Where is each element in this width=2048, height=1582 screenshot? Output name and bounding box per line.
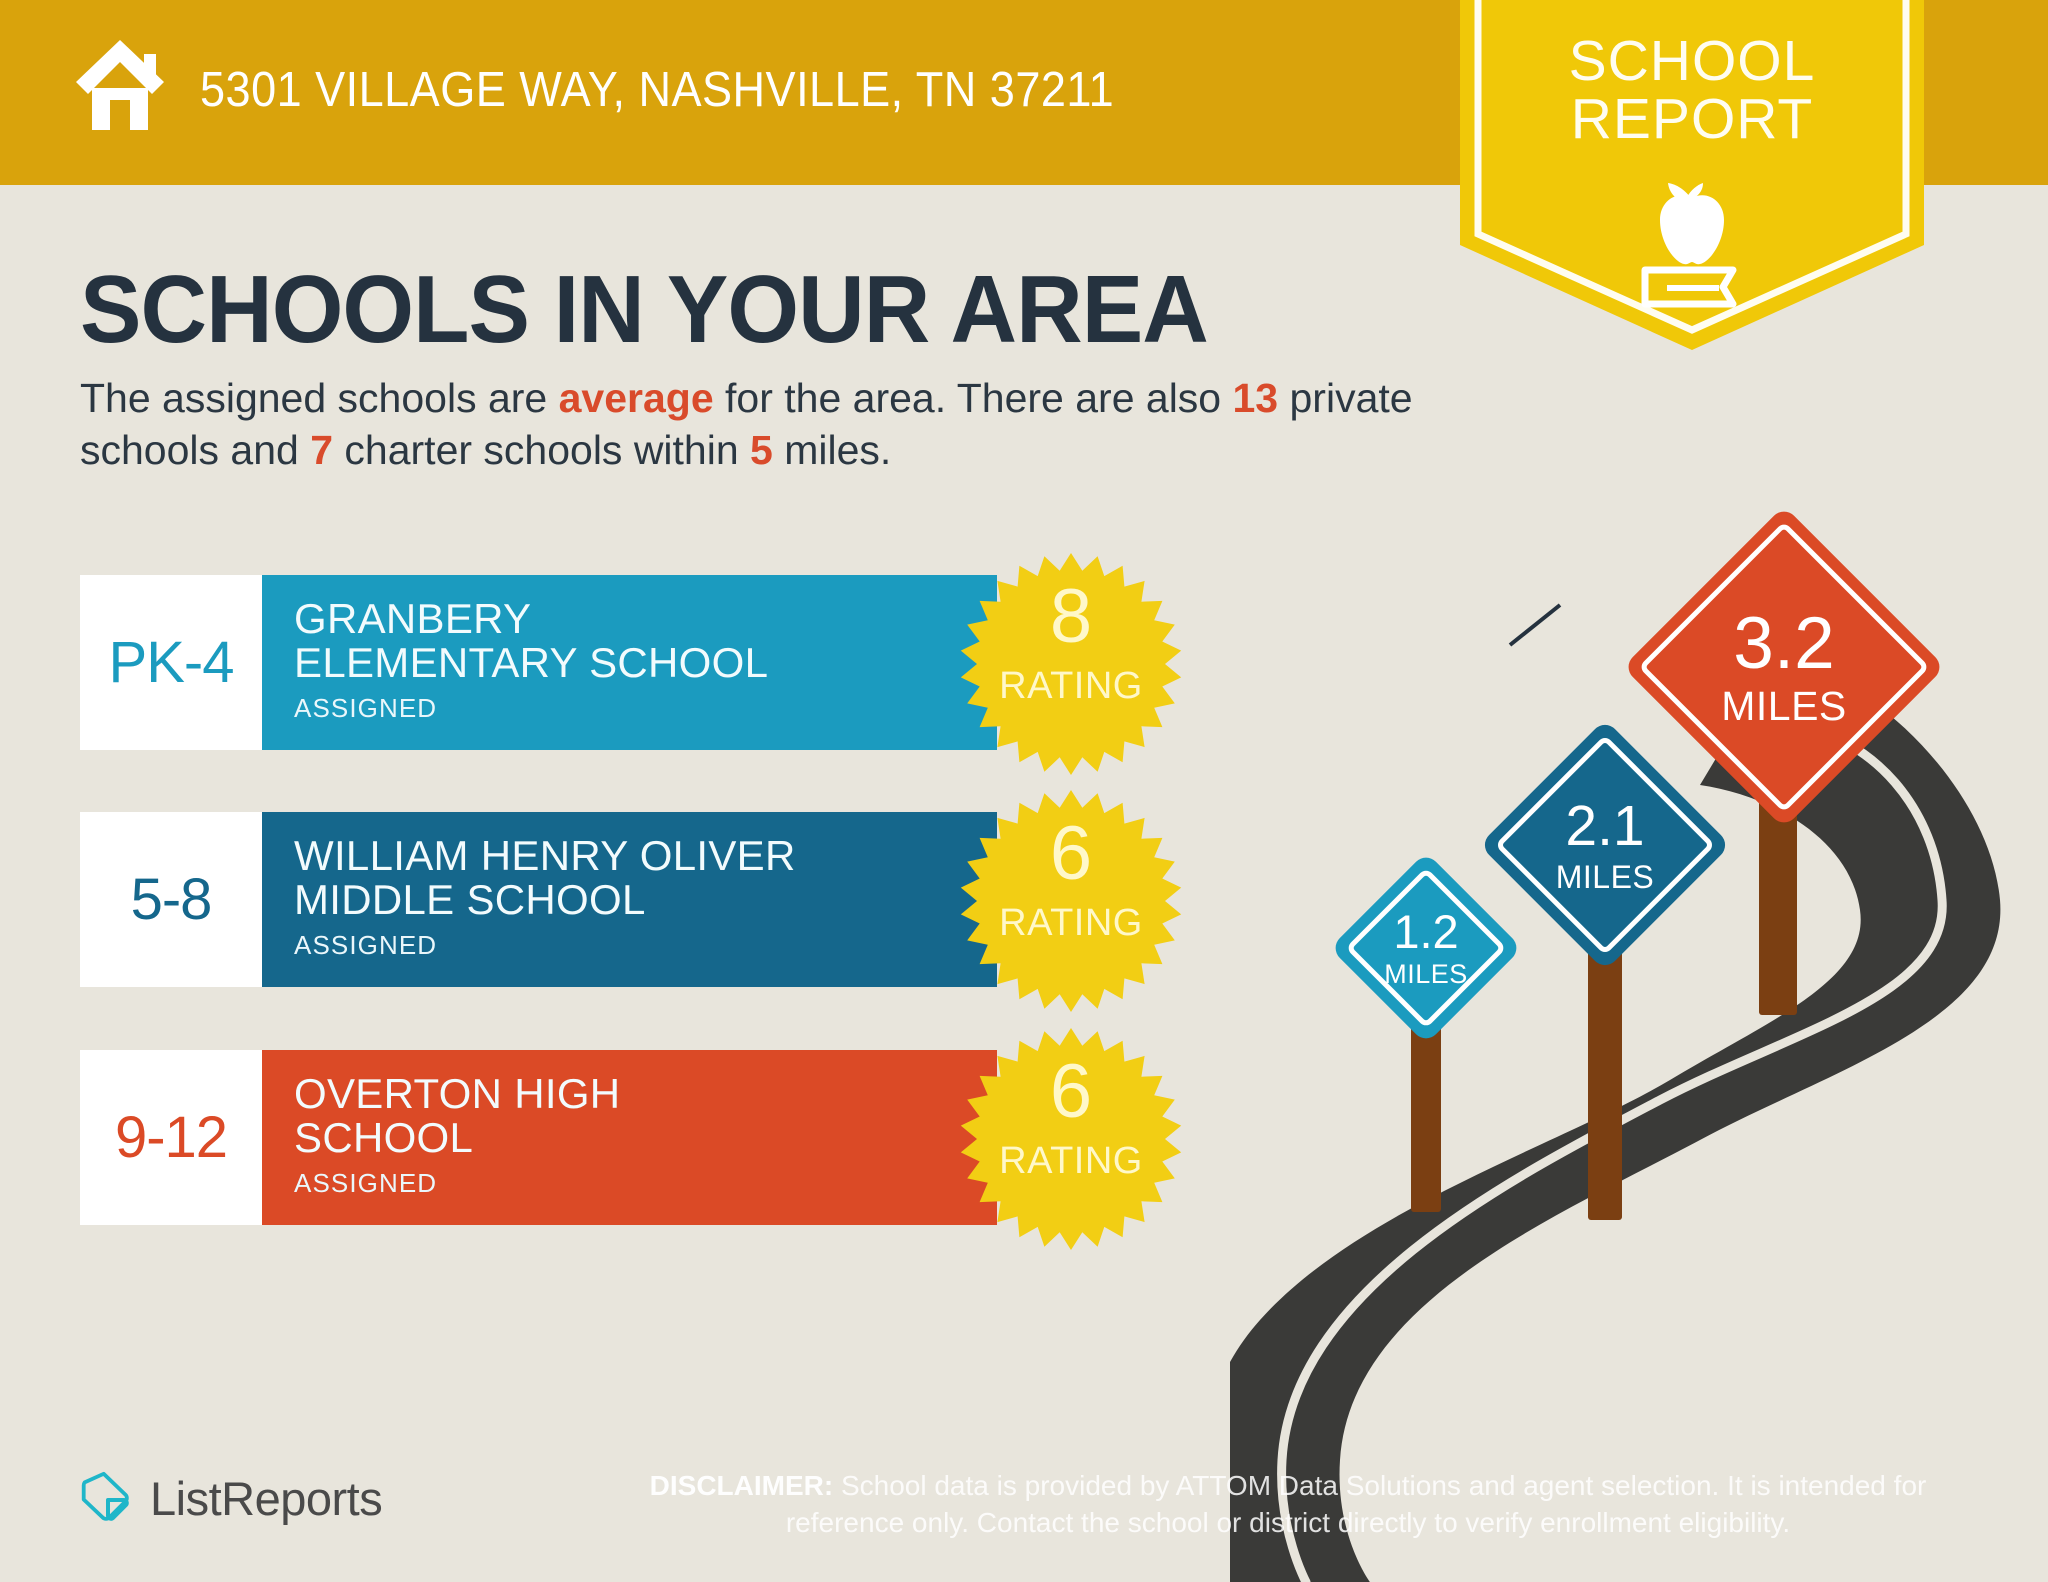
grade-range-label: 9-12 (115, 1104, 227, 1171)
subtitle-part5: miles. (773, 427, 891, 473)
disclaimer: DISCLAIMER: School data is provided by A… (598, 1468, 1978, 1542)
school-name-line2: SCHOOL (294, 1116, 997, 1160)
property-address: 5301 VILLAGE WAY, NASHVILLE, TN 37211 (200, 62, 1114, 118)
school-row[interactable]: 9-12 OVERTON HIGH SCHOOL ASSIGNED 6 RATI… (80, 1050, 1100, 1225)
grade-range-box: PK-4 (80, 575, 262, 750)
sign-unit: MILES (1384, 961, 1468, 988)
sign-label: 3.2 MILES (1670, 553, 1898, 781)
disclaimer-label: DISCLAIMER: (650, 1470, 834, 1501)
school-name-line1: WILLIAM HENRY OLIVER (294, 834, 997, 878)
listreports-logo[interactable]: ListReports (80, 1470, 382, 1526)
rating-label: RATING (960, 665, 1182, 708)
home-icon (72, 38, 168, 130)
school-status: ASSIGNED (294, 693, 997, 724)
rating-value: 6 (960, 1054, 1182, 1130)
rating-label: RATING (960, 902, 1182, 945)
badge-line-report: REPORT (1452, 90, 1932, 148)
grade-range-box: 5-8 (80, 812, 262, 987)
school-name: GRANBERY ELEMENTARY SCHOOL (294, 597, 997, 685)
apple-on-book-icon (1627, 172, 1757, 317)
logo-text: ListReports (150, 1471, 382, 1526)
rating-starburst: 6 RATING (960, 790, 1182, 1012)
sign-unit: MILES (1721, 686, 1847, 727)
school-row[interactable]: PK-4 GRANBERY ELEMENTARY SCHOOL ASSIGNED… (80, 575, 1100, 750)
subtitle-highlight-radius: 5 (750, 427, 773, 473)
school-name-line1: OVERTON HIGH (294, 1072, 997, 1116)
rating-label: RATING (960, 1140, 1182, 1183)
subtitle-highlight-private-count: 13 (1233, 375, 1279, 421)
school-name-line2: ELEMENTARY SCHOOL (294, 641, 997, 685)
rating-starburst: 6 RATING (960, 1028, 1182, 1250)
school-bar: GRANBERY ELEMENTARY SCHOOL ASSIGNED (262, 575, 997, 750)
school-name: OVERTON HIGH SCHOOL (294, 1072, 997, 1160)
school-bar: OVERTON HIGH SCHOOL ASSIGNED (262, 1050, 997, 1225)
rating-value: 6 (960, 816, 1182, 892)
grade-range-box: 9-12 (80, 1050, 262, 1225)
subtitle-highlight-average: average (559, 375, 714, 421)
school-status: ASSIGNED (294, 930, 997, 961)
subtitle-part1: The assigned schools are (80, 375, 559, 421)
sign-distance: 3.2 (1733, 607, 1834, 680)
road-illustration: 1.2 MILES 2.1 MILES 3.2 MILES (1230, 600, 2048, 1582)
badge-line-school: SCHOOL (1452, 32, 1932, 90)
subtitle-part2: for the area. There are also (714, 375, 1233, 421)
school-name-line2: MIDDLE SCHOOL (294, 878, 997, 922)
grade-range-label: PK-4 (109, 629, 234, 696)
grade-range-label: 5-8 (131, 866, 212, 933)
distance-sign: 3.2 MILES (1620, 505, 1950, 1085)
school-bar: WILLIAM HENRY OLIVER MIDDLE SCHOOL ASSIG… (262, 812, 997, 987)
school-report-badge: SCHOOL REPORT (1452, 0, 1932, 365)
subtitle-part4: charter schools within (333, 427, 750, 473)
house-tag-icon (80, 1470, 136, 1526)
page-title: SCHOOLS IN YOUR AREA (80, 255, 1208, 365)
sign-label: 1.2 MILES (1358, 880, 1494, 1016)
school-row[interactable]: 5-8 WILLIAM HENRY OLIVER MIDDLE SCHOOL A… (80, 812, 1100, 987)
rating-starburst: 8 RATING (960, 553, 1182, 775)
disclaimer-text: School data is provided by ATTOM Data So… (786, 1470, 1926, 1538)
school-status: ASSIGNED (294, 1168, 997, 1199)
subtitle: The assigned schools are average for the… (80, 372, 1440, 477)
rating-value: 8 (960, 579, 1182, 655)
school-name-line1: GRANBERY (294, 597, 997, 641)
sign-distance: 1.2 (1393, 908, 1458, 955)
school-name: WILLIAM HENRY OLIVER MIDDLE SCHOOL (294, 834, 997, 922)
subtitle-highlight-charter-count: 7 (310, 427, 333, 473)
